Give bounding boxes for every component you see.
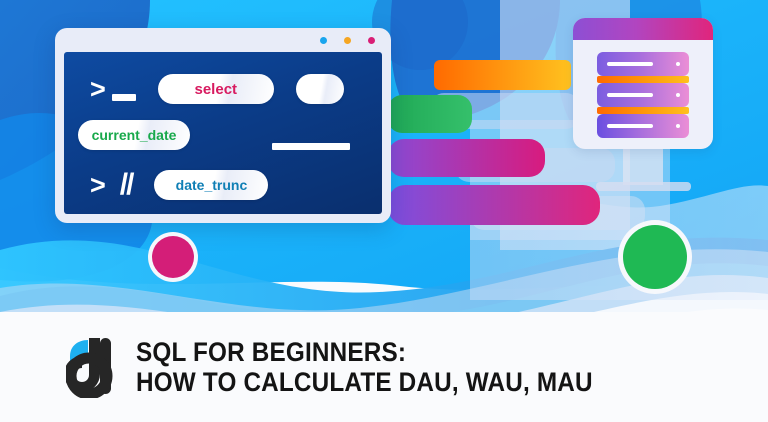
- window-dot-blue-icon[interactable]: [320, 37, 327, 44]
- server-led-icon: [676, 62, 680, 66]
- server-row: [597, 114, 689, 138]
- bar-green: [388, 95, 472, 133]
- bar-orange: [434, 60, 571, 90]
- accent-circle-pink: [152, 236, 194, 278]
- bar-violet: [388, 185, 600, 225]
- terminal-row-3: > // date_trunc: [90, 170, 268, 200]
- terminal-screen: > select current_date > // date_trunc: [64, 52, 382, 214]
- server-row: [597, 83, 689, 107]
- keyword-pill-current-date[interactable]: current_date: [78, 120, 190, 150]
- keyword-pill-date-trunc[interactable]: date_trunc: [154, 170, 268, 200]
- footer-bar: SQL FOR BEGINNERS: HOW TO CALCULATE DAU,…: [0, 312, 768, 422]
- terminal-row-2: current_date: [78, 120, 190, 150]
- banner-canvas: > select current_date > // date_trunc: [0, 0, 768, 422]
- server-stack: [597, 52, 689, 138]
- database-card: [573, 18, 713, 149]
- terminal-cursor-icon: [112, 94, 136, 101]
- server-separator: [597, 107, 689, 114]
- window-dot-orange-icon[interactable]: [344, 37, 351, 44]
- db-card-header: [573, 18, 713, 40]
- db-card-base: [596, 182, 691, 191]
- window-dot-pink-icon[interactable]: [368, 37, 375, 44]
- db-card-body: [573, 40, 713, 149]
- terminal-row-1: > select: [90, 74, 344, 104]
- prompt-chevron-icon: >: [90, 172, 106, 199]
- accent-circle-green: [623, 225, 687, 289]
- server-row: [597, 52, 689, 76]
- terminal-window: > select current_date > // date_trunc: [55, 28, 391, 223]
- terminal-titlebar: [55, 28, 391, 52]
- bar-magenta: [388, 139, 545, 177]
- server-line: [607, 124, 653, 128]
- server-led-icon: [676, 93, 680, 97]
- prompt-chevron-icon: >: [90, 76, 106, 103]
- server-line: [607, 93, 653, 97]
- db-card-stand: [623, 149, 663, 185]
- page-title-line-2: HOW TO CALCULATE DAU, WAU, MAU: [136, 367, 593, 397]
- d-logo-icon: [66, 336, 118, 398]
- server-line: [607, 62, 653, 66]
- d-logo: [66, 336, 118, 398]
- page-title-line-1: SQL FOR BEGINNERS:: [136, 337, 593, 367]
- double-slash-icon: //: [120, 170, 133, 200]
- keyword-pill-select[interactable]: select: [158, 74, 274, 104]
- terminal-underline-bar: [272, 143, 350, 150]
- keyword-pill-blank[interactable]: [296, 74, 344, 104]
- server-led-icon: [676, 124, 680, 128]
- server-separator: [597, 76, 689, 83]
- title-block: SQL FOR BEGINNERS: HOW TO CALCULATE DAU,…: [136, 337, 643, 397]
